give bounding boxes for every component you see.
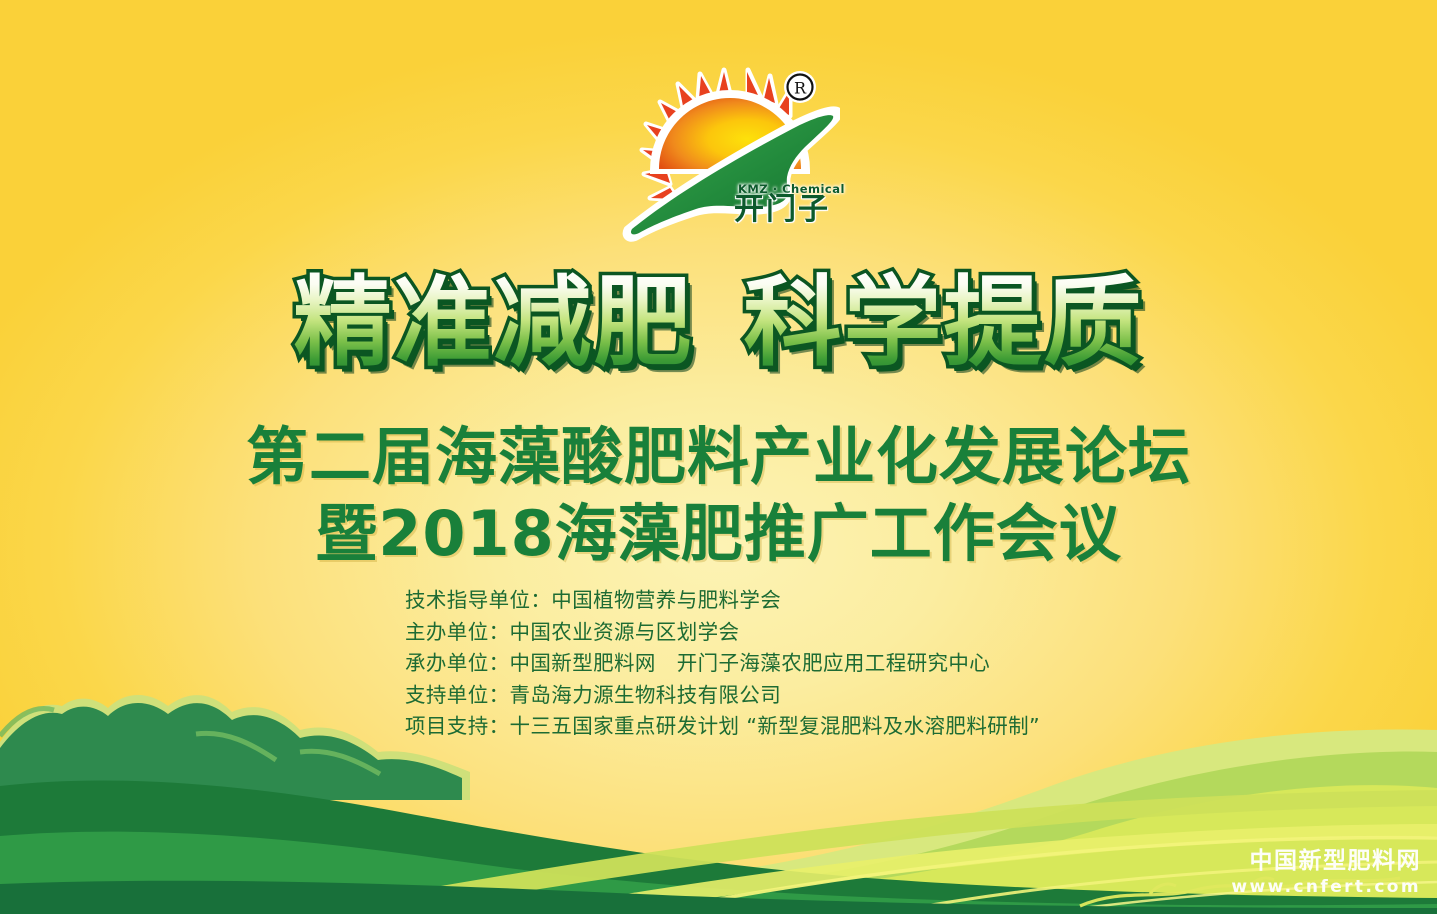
detail-line-organizer: 承办单位：中国新型肥料网 开门子海藻农肥应用工程研究中心 (405, 648, 1040, 680)
company-logo: R KMZ · Chemical 开门子 (620, 62, 840, 247)
site-watermark: 中国新型肥料网 www.cnfert.com (1231, 850, 1421, 896)
headline-wrap: 精准减肥科学提质 精准减肥科学提质 (293, 272, 1143, 375)
headline-text: 精准减肥科学提质 (293, 266, 1143, 380)
registered-trademark-icon: R (784, 71, 816, 103)
logo-chinese-name: 开门子 (734, 195, 830, 225)
detail-line-supporter: 支持单位：青岛海力源生物科技有限公司 (405, 680, 1040, 712)
detail-line-technical-guidance: 技术指导单位：中国植物营养与肥料学会 (405, 585, 1040, 617)
organization-details: 技术指导单位：中国植物营养与肥料学会 主办单位：中国农业资源与区划学会 承办单位… (405, 585, 1040, 743)
event-poster: R KMZ · Chemical 开门子 精准减肥科学提质 精准减肥科学提质 第… (0, 0, 1437, 914)
svg-text:R: R (794, 79, 807, 98)
subtitle-line-2: 暨2018海藻肥推广工作会议 (0, 483, 1437, 573)
headline-part2: 科学提质 (744, 266, 1144, 380)
detail-line-project-support: 项目支持：十三五国家重点研发计划 “新型复混肥料及水溶肥料研制” (405, 711, 1040, 743)
headline-part1: 精准减肥 (293, 266, 693, 380)
watermark-url: www.cnfert.com (1231, 879, 1421, 896)
detail-line-host: 主办单位：中国农业资源与区划学会 (405, 617, 1040, 649)
watermark-site-name: 中国新型肥料网 (1231, 850, 1421, 873)
poster-headline: 精准减肥科学提质 精准减肥科学提质 (0, 272, 1437, 375)
